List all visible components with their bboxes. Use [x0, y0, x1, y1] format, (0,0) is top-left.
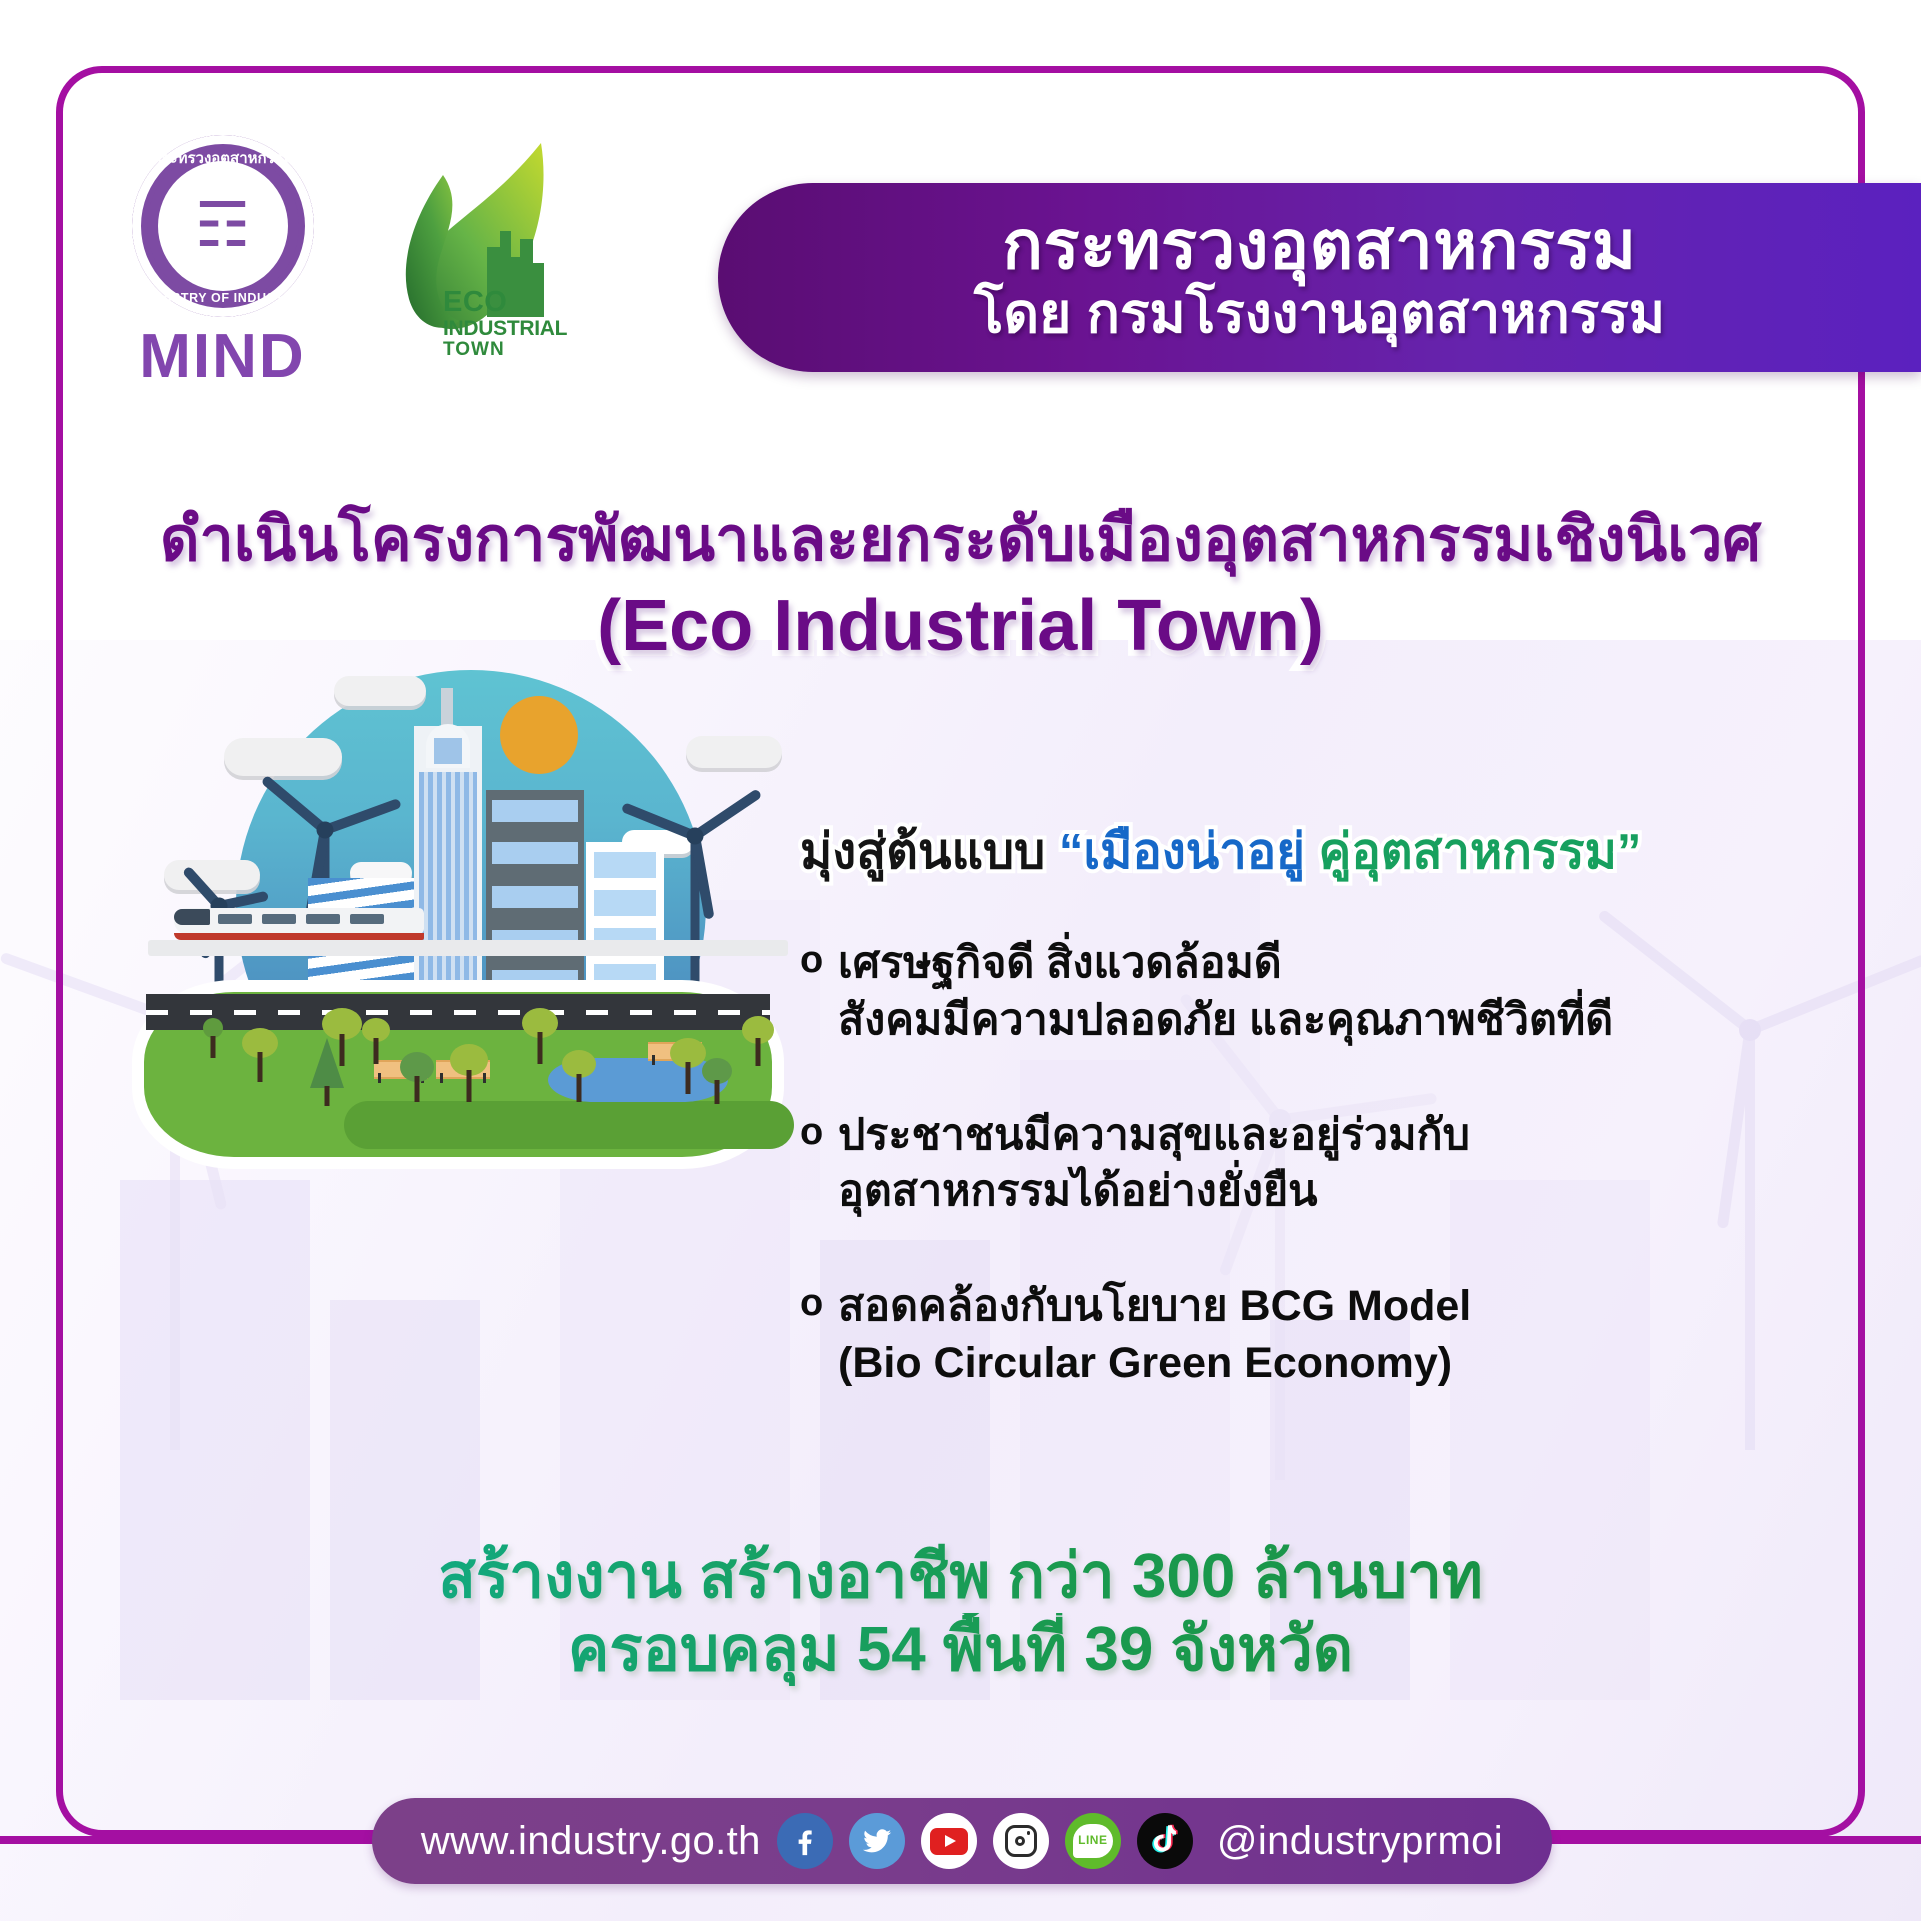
twitter-icon[interactable] [849, 1813, 905, 1869]
logo-group: ☶ กระทรวงอุตสาหกรรม MINISTRY OF INDUSTRY… [120, 135, 590, 392]
cloud-icon [224, 738, 342, 776]
tree [200, 1018, 226, 1058]
road-dashes [146, 1010, 770, 1015]
eco-word-line-3: TOWN [443, 340, 567, 360]
list-item: oประชาชนมีความสุขและอยู่ร่วมกับ อุตสาหกร… [800, 1107, 1870, 1221]
building-white-right [586, 842, 664, 998]
highlight-text-layer: สร้างงาน สร้างอาชีพ กว่า 300 ล้านบาท ครอ… [0, 1540, 1921, 1686]
bullet-line-1: สอดคล้องกับนโยบาย BCG Model [838, 1278, 1471, 1335]
bullet-marker: o [800, 1107, 838, 1157]
tiktok-icon[interactable] [1137, 1813, 1193, 1869]
tree [560, 1050, 598, 1102]
footer-bar: www.industry.go.th LINE [372, 1798, 1552, 1884]
eco-industrial-town-logo-icon: ECO INDUSTRIAL TOWN [385, 135, 590, 385]
elevated-track [148, 940, 788, 956]
header-line-2: โดย กรมโรงงานอุตสาหกรรม [974, 285, 1665, 343]
bullet-line-1: เศรษฐกิจดี สิ่งแวดล้อมดี [838, 935, 1282, 992]
tagline: มุ่งสู่ต้นแบบ “เมืองน่าอยู่ คู่อุตสาหกรร… [800, 812, 1840, 890]
highlight-block: สร้างงาน สร้างอาชีพ กว่า 300 ล้านบาท ครอ… [0, 1540, 1921, 1720]
tree [520, 1008, 560, 1064]
tree-pine [310, 1038, 344, 1106]
eco-logo-wordmark: ECO INDUSTRIAL TOWN [443, 287, 567, 360]
tagline-quote-open: “ [1059, 825, 1084, 879]
bullet-line-2: อุตสาหกรรมได้อย่างยั่งยืน [800, 1163, 1870, 1220]
building-tower-main [414, 726, 482, 998]
bullet-line-2: (Bio Circular Green Economy) [800, 1335, 1870, 1392]
mind-wordmark: MIND [139, 321, 305, 392]
youtube-icon[interactable] [921, 1813, 977, 1869]
cloud-icon [164, 860, 260, 890]
list-item: oเศรษฐกิจดี สิ่งแวดล้อมดี สังคมมีความปลอ… [800, 935, 1870, 1049]
bullet-list: oเศรษฐกิจดี สิ่งแวดล้อมดี สังคมมีความปลอ… [800, 935, 1870, 1450]
bullet-line-2: สังคมมีความปลอดภัย และคุณภาพชีวิตที่ดี [800, 992, 1870, 1049]
tree [240, 1028, 280, 1082]
tagline-quote-close: ” [1617, 825, 1642, 879]
header-line-1: กระทรวงอุตสาหกรรม [1002, 212, 1636, 280]
bullet-marker: o [800, 935, 838, 985]
eco-word-line-2: INDUSTRIAL [443, 318, 567, 340]
tree [448, 1044, 490, 1102]
tagline-space [1305, 825, 1319, 879]
highlight-line-2: ครอบคลุม 54 พื้นที่ 39 จังหวัด [0, 1613, 1921, 1686]
building-dark-mid [486, 790, 584, 998]
eco-city-illustration [128, 640, 788, 1180]
road [146, 994, 770, 1030]
tree [360, 1018, 392, 1064]
facebook-icon[interactable] [777, 1813, 833, 1869]
poster-root: กระทรวงอุตสาหกรรม โดย กรมโรงงานอุตสาหกรร… [0, 0, 1921, 1921]
instagram-icon[interactable] [993, 1813, 1049, 1869]
header-banner: กระทรวงอุตสาหกรรม โดย กรมโรงงานอุตสาหกรร… [718, 183, 1921, 372]
page-title-thai: ดำเนินโครงการพัฒนาและยกระดับเมืองอุตสาหก… [0, 490, 1921, 587]
cloud-icon [334, 676, 426, 706]
tree [740, 1016, 776, 1066]
ministry-seal-block: ☶ กระทรวงอุตสาหกรรม MINISTRY OF INDUSTRY… [120, 135, 325, 392]
park-ground-shade [344, 1101, 794, 1149]
train-icon [174, 908, 424, 942]
cloud-icon [686, 736, 782, 768]
social-handle[interactable]: @industryprmoi [1217, 1819, 1503, 1864]
sun-icon [500, 696, 578, 774]
line-icon[interactable]: LINE [1065, 1813, 1121, 1869]
tree [700, 1058, 734, 1104]
tree [398, 1052, 436, 1102]
list-item: oสอดคล้องกับนโยบาย BCG Model (Bio Circul… [800, 1278, 1870, 1392]
bullet-marker: o [800, 1278, 838, 1328]
footer-rule-right [1541, 1836, 1921, 1844]
seal-arc-bottom-text: MINISTRY OF INDUSTRY [132, 291, 314, 305]
tagline-blue-phrase: เมืองน่าอยู่ [1083, 825, 1305, 879]
ministry-of-industry-seal-icon: ☶ กระทรวงอุตสาหกรรม MINISTRY OF INDUSTRY [132, 135, 314, 317]
bullet-line-1: ประชาชนมีความสุขและอยู่ร่วมกับ [838, 1107, 1470, 1164]
seal-arc-top-text: กระทรวงอุตสาหกรรม [132, 146, 314, 170]
website-url[interactable]: www.industry.go.th [421, 1819, 761, 1864]
eco-word-line-1: ECO [443, 287, 567, 318]
seal-deity-figure-icon: ☶ [195, 195, 251, 257]
footer-rule-left [0, 1836, 380, 1844]
highlight-line-1: สร้างงาน สร้างอาชีพ กว่า 300 ล้านบาท [0, 1540, 1921, 1613]
tagline-green-phrase: คู่อุตสาหกรรม [1319, 825, 1617, 879]
tagline-prefix: มุ่งสู่ต้นแบบ [800, 825, 1059, 879]
